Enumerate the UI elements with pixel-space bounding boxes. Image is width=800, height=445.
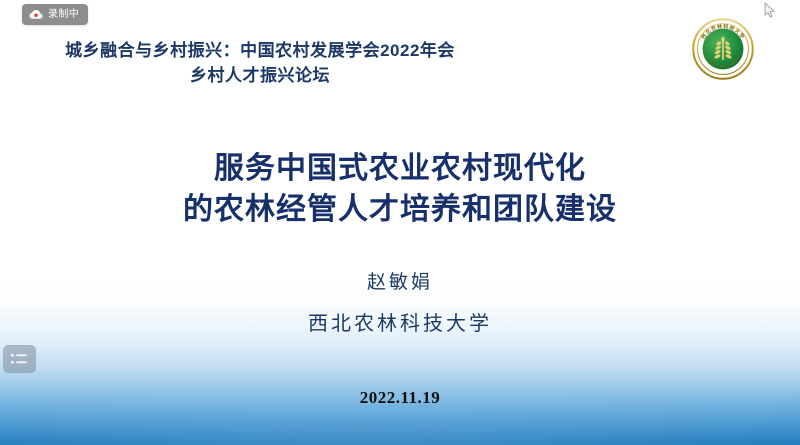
slide-title: 服务中国式农业农村现代化 的农林经管人才培养和团队建设 <box>0 148 800 230</box>
arrow-cursor-icon <box>764 2 776 20</box>
cloud-record-icon <box>29 9 43 20</box>
list-icon <box>10 352 29 366</box>
slide-title-line2: 的农林经管人才培养和团队建设 <box>0 189 800 230</box>
conference-header-line2: 乡村人才振兴论坛 <box>0 63 800 88</box>
slide-title-line1: 服务中国式农业农村现代化 <box>0 148 800 189</box>
northwest-af-university-logo: 西北农林科技大学 NORTHWEST A&F UNIVERSITY <box>692 18 754 80</box>
slide-date: 2022.11.19 <box>0 387 800 408</box>
presenter-affiliation: 西北农林科技大学 <box>0 312 800 336</box>
list-menu-button[interactable] <box>3 345 36 373</box>
conference-header: 城乡融合与乡村振兴：中国农村发展学会2022年会 乡村人才振兴论坛 <box>0 38 800 88</box>
presenter-name: 赵敏娟 <box>0 272 800 294</box>
recording-badge[interactable]: 录制中 <box>22 4 88 25</box>
recording-label: 录制中 <box>48 10 79 20</box>
conference-header-line1: 城乡融合与乡村振兴：中国农村发展学会2022年会 <box>0 38 800 63</box>
mouse-cursor <box>764 2 776 20</box>
screen-share-view: 录制中 城乡融合与乡村振兴：中国农村发展学会2022年会 乡村人才振兴论坛 <box>0 0 800 445</box>
